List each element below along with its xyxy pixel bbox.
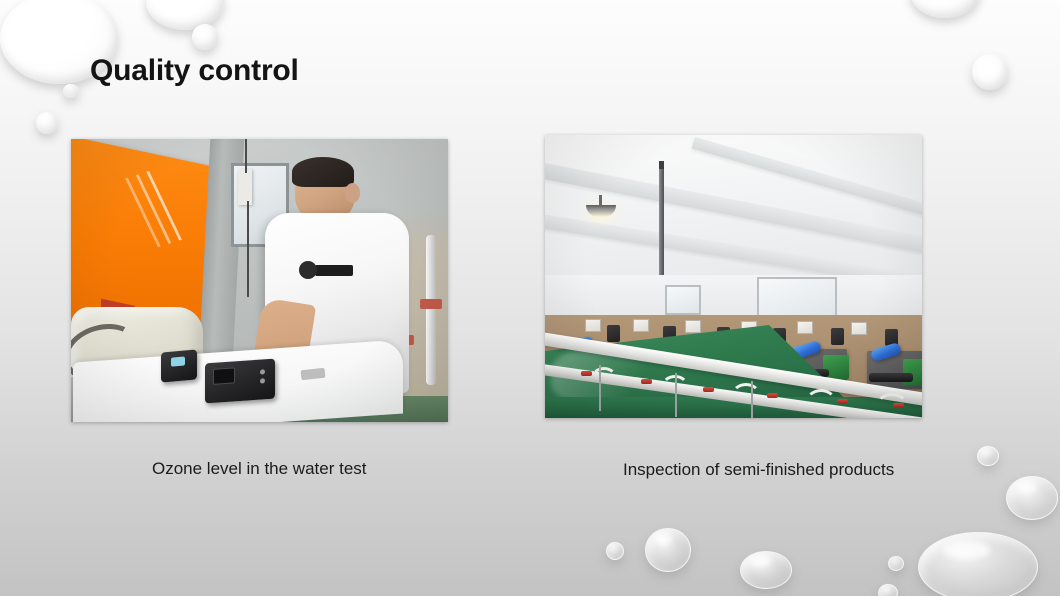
caption-inspection-line: Inspection of semi-finished products [623, 460, 894, 480]
bubble-right-oval [1006, 476, 1058, 520]
photo-inspection-line [545, 135, 922, 418]
bubble-bottom-wide [740, 551, 792, 589]
photo-right-vignette [545, 135, 922, 418]
bubble-left-drop [36, 112, 58, 134]
caption-ozone-water-test: Ozone level in the water test [152, 459, 367, 479]
bubble-bottom-mid [645, 528, 691, 572]
bubble-right-blob [918, 532, 1038, 596]
bubble-top-right-large [910, 0, 980, 18]
bubble-mid-right-tiny [977, 446, 999, 466]
page-title: Quality control [90, 54, 299, 88]
photo-ozone-water-test [71, 139, 448, 422]
bubble-bottom-edge [878, 584, 898, 596]
bubble-bottom-small [606, 542, 624, 560]
bubble-top-right-small [972, 54, 1008, 90]
bubble-top-left-mid [146, 0, 224, 30]
bubble-top-left-small [192, 24, 218, 50]
bubble-bottom-tinydot [888, 556, 904, 571]
slide-canvas: Quality control [0, 0, 1060, 596]
bubble-top-left-tiny [63, 84, 79, 98]
photo-left-vignette [71, 139, 448, 422]
